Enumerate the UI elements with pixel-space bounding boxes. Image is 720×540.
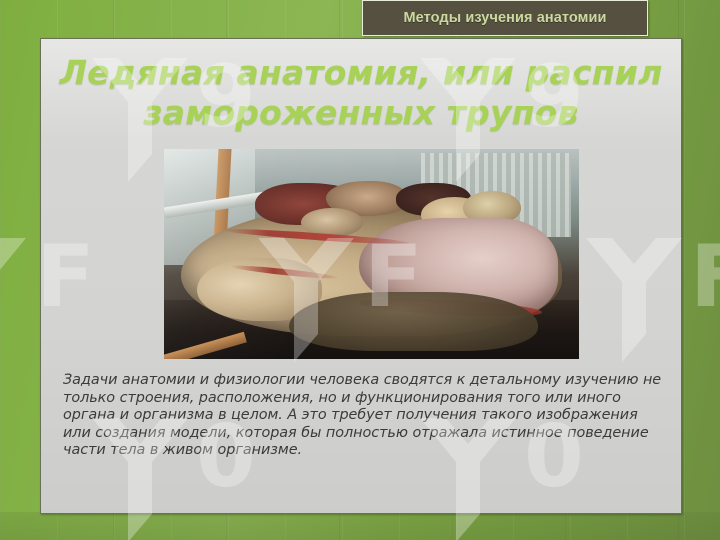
header-tag-label: Методы изучения анатомии [403,10,606,26]
photo-canvas [164,149,579,359]
slide-image [164,149,579,359]
background-bottom-band [0,512,720,540]
slide: Ледяная анатомия, или распил замороженны… [0,0,720,540]
photo-cloth-drape [289,292,538,351]
slide-title: Ледяная анатомия, или распил замороженны… [41,53,681,133]
slide-body-text: Задачи анатомии и физиологии человека св… [63,372,663,460]
svg-text:F: F [690,227,720,327]
header-tag: Методы изучения анатомии [362,0,648,36]
content-panel: Ледяная анатомия, или распил замороженны… [40,38,682,514]
